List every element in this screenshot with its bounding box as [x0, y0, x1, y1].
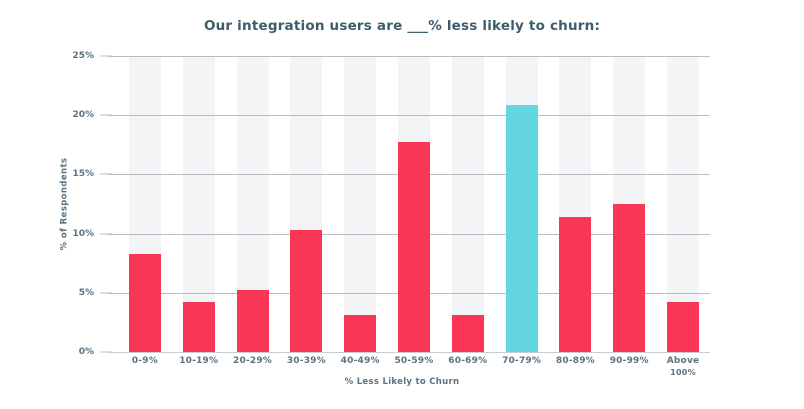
- bar-slot: [549, 56, 603, 352]
- y-tick-label: 20%: [72, 110, 94, 120]
- bar-slot: [279, 56, 333, 352]
- bar[interactable]: [344, 315, 376, 352]
- bar-slot: [118, 56, 172, 352]
- chart-container: Our integration users are ___% less like…: [0, 0, 804, 409]
- bar-slot: [656, 56, 710, 352]
- chart-title: Our integration users are ___% less like…: [0, 18, 804, 34]
- bar[interactable]: [183, 302, 215, 352]
- bar[interactable]: [398, 142, 430, 352]
- bar[interactable]: [559, 217, 591, 352]
- x-axis-label: % Less Likely to Churn: [0, 377, 804, 387]
- bar-slot: [333, 56, 387, 352]
- bar[interactable]: [237, 290, 269, 352]
- y-tick-label: 25%: [72, 51, 94, 61]
- bar[interactable]: [290, 230, 322, 352]
- plot-area: [118, 56, 710, 352]
- y-axis-ticks: 0%5%10%15%20%25%: [0, 56, 112, 352]
- bar-highlighted[interactable]: [506, 105, 538, 352]
- y-tick-label: 0%: [79, 347, 94, 357]
- bar-series: [118, 56, 710, 352]
- bar-slot: [495, 56, 549, 352]
- bar-slot: [602, 56, 656, 352]
- bar[interactable]: [452, 315, 484, 352]
- y-tick-label: 5%: [79, 288, 94, 298]
- bar-slot: [172, 56, 226, 352]
- bar[interactable]: [613, 204, 645, 352]
- bar[interactable]: [667, 302, 699, 352]
- bar-slot: [226, 56, 280, 352]
- bar-slot: [387, 56, 441, 352]
- y-tick-label: 15%: [72, 169, 94, 179]
- bar-slot: [441, 56, 495, 352]
- y-tick-label: 10%: [72, 229, 94, 239]
- bar[interactable]: [129, 254, 161, 352]
- axis-baseline: [108, 352, 710, 353]
